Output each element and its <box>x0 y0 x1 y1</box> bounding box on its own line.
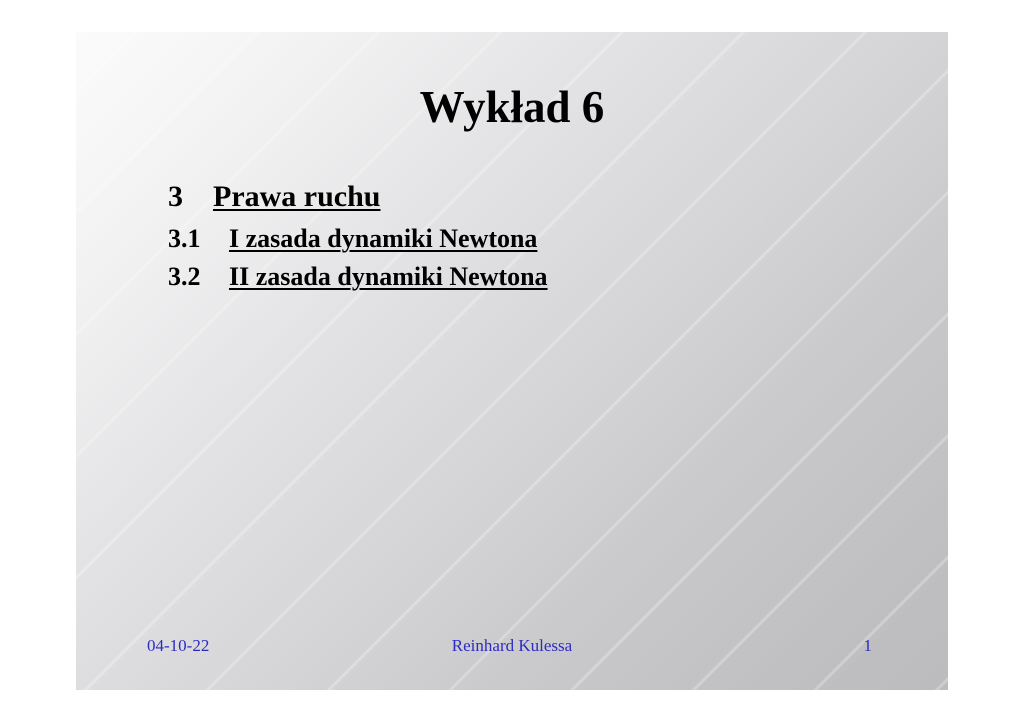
outline-item-label: II zasada dynamiki Newtona <box>229 262 548 292</box>
outline-item-number: 3 <box>168 180 213 214</box>
page-canvas: Wykład 6 3 Prawa ruchu 3.1 I zasada dyna… <box>0 0 1024 724</box>
footer-author: Reinhard Kulessa <box>76 636 948 656</box>
slide-content: Wykład 6 3 Prawa ruchu 3.1 I zasada dyna… <box>76 32 948 690</box>
outline-item-number: 3.2 <box>168 262 229 292</box>
slide-title: Wykład 6 <box>76 84 948 131</box>
outline-item-number: 3.1 <box>168 224 229 254</box>
outline-item-3: 3 Prawa ruchu <box>168 180 908 214</box>
outline-list: 3 Prawa ruchu 3.1 I zasada dynamiki Newt… <box>168 180 908 300</box>
footer-page-number: 1 <box>864 636 873 656</box>
outline-item-3-1: 3.1 I zasada dynamiki Newtona <box>168 224 908 254</box>
outline-item-label: I zasada dynamiki Newtona <box>229 224 537 254</box>
slide-footer: 04-10-22 Reinhard Kulessa 1 <box>76 636 948 656</box>
outline-item-label: Prawa ruchu <box>213 180 381 214</box>
presentation-slide: Wykład 6 3 Prawa ruchu 3.1 I zasada dyna… <box>76 32 948 690</box>
outline-item-3-2: 3.2 II zasada dynamiki Newtona <box>168 262 908 292</box>
